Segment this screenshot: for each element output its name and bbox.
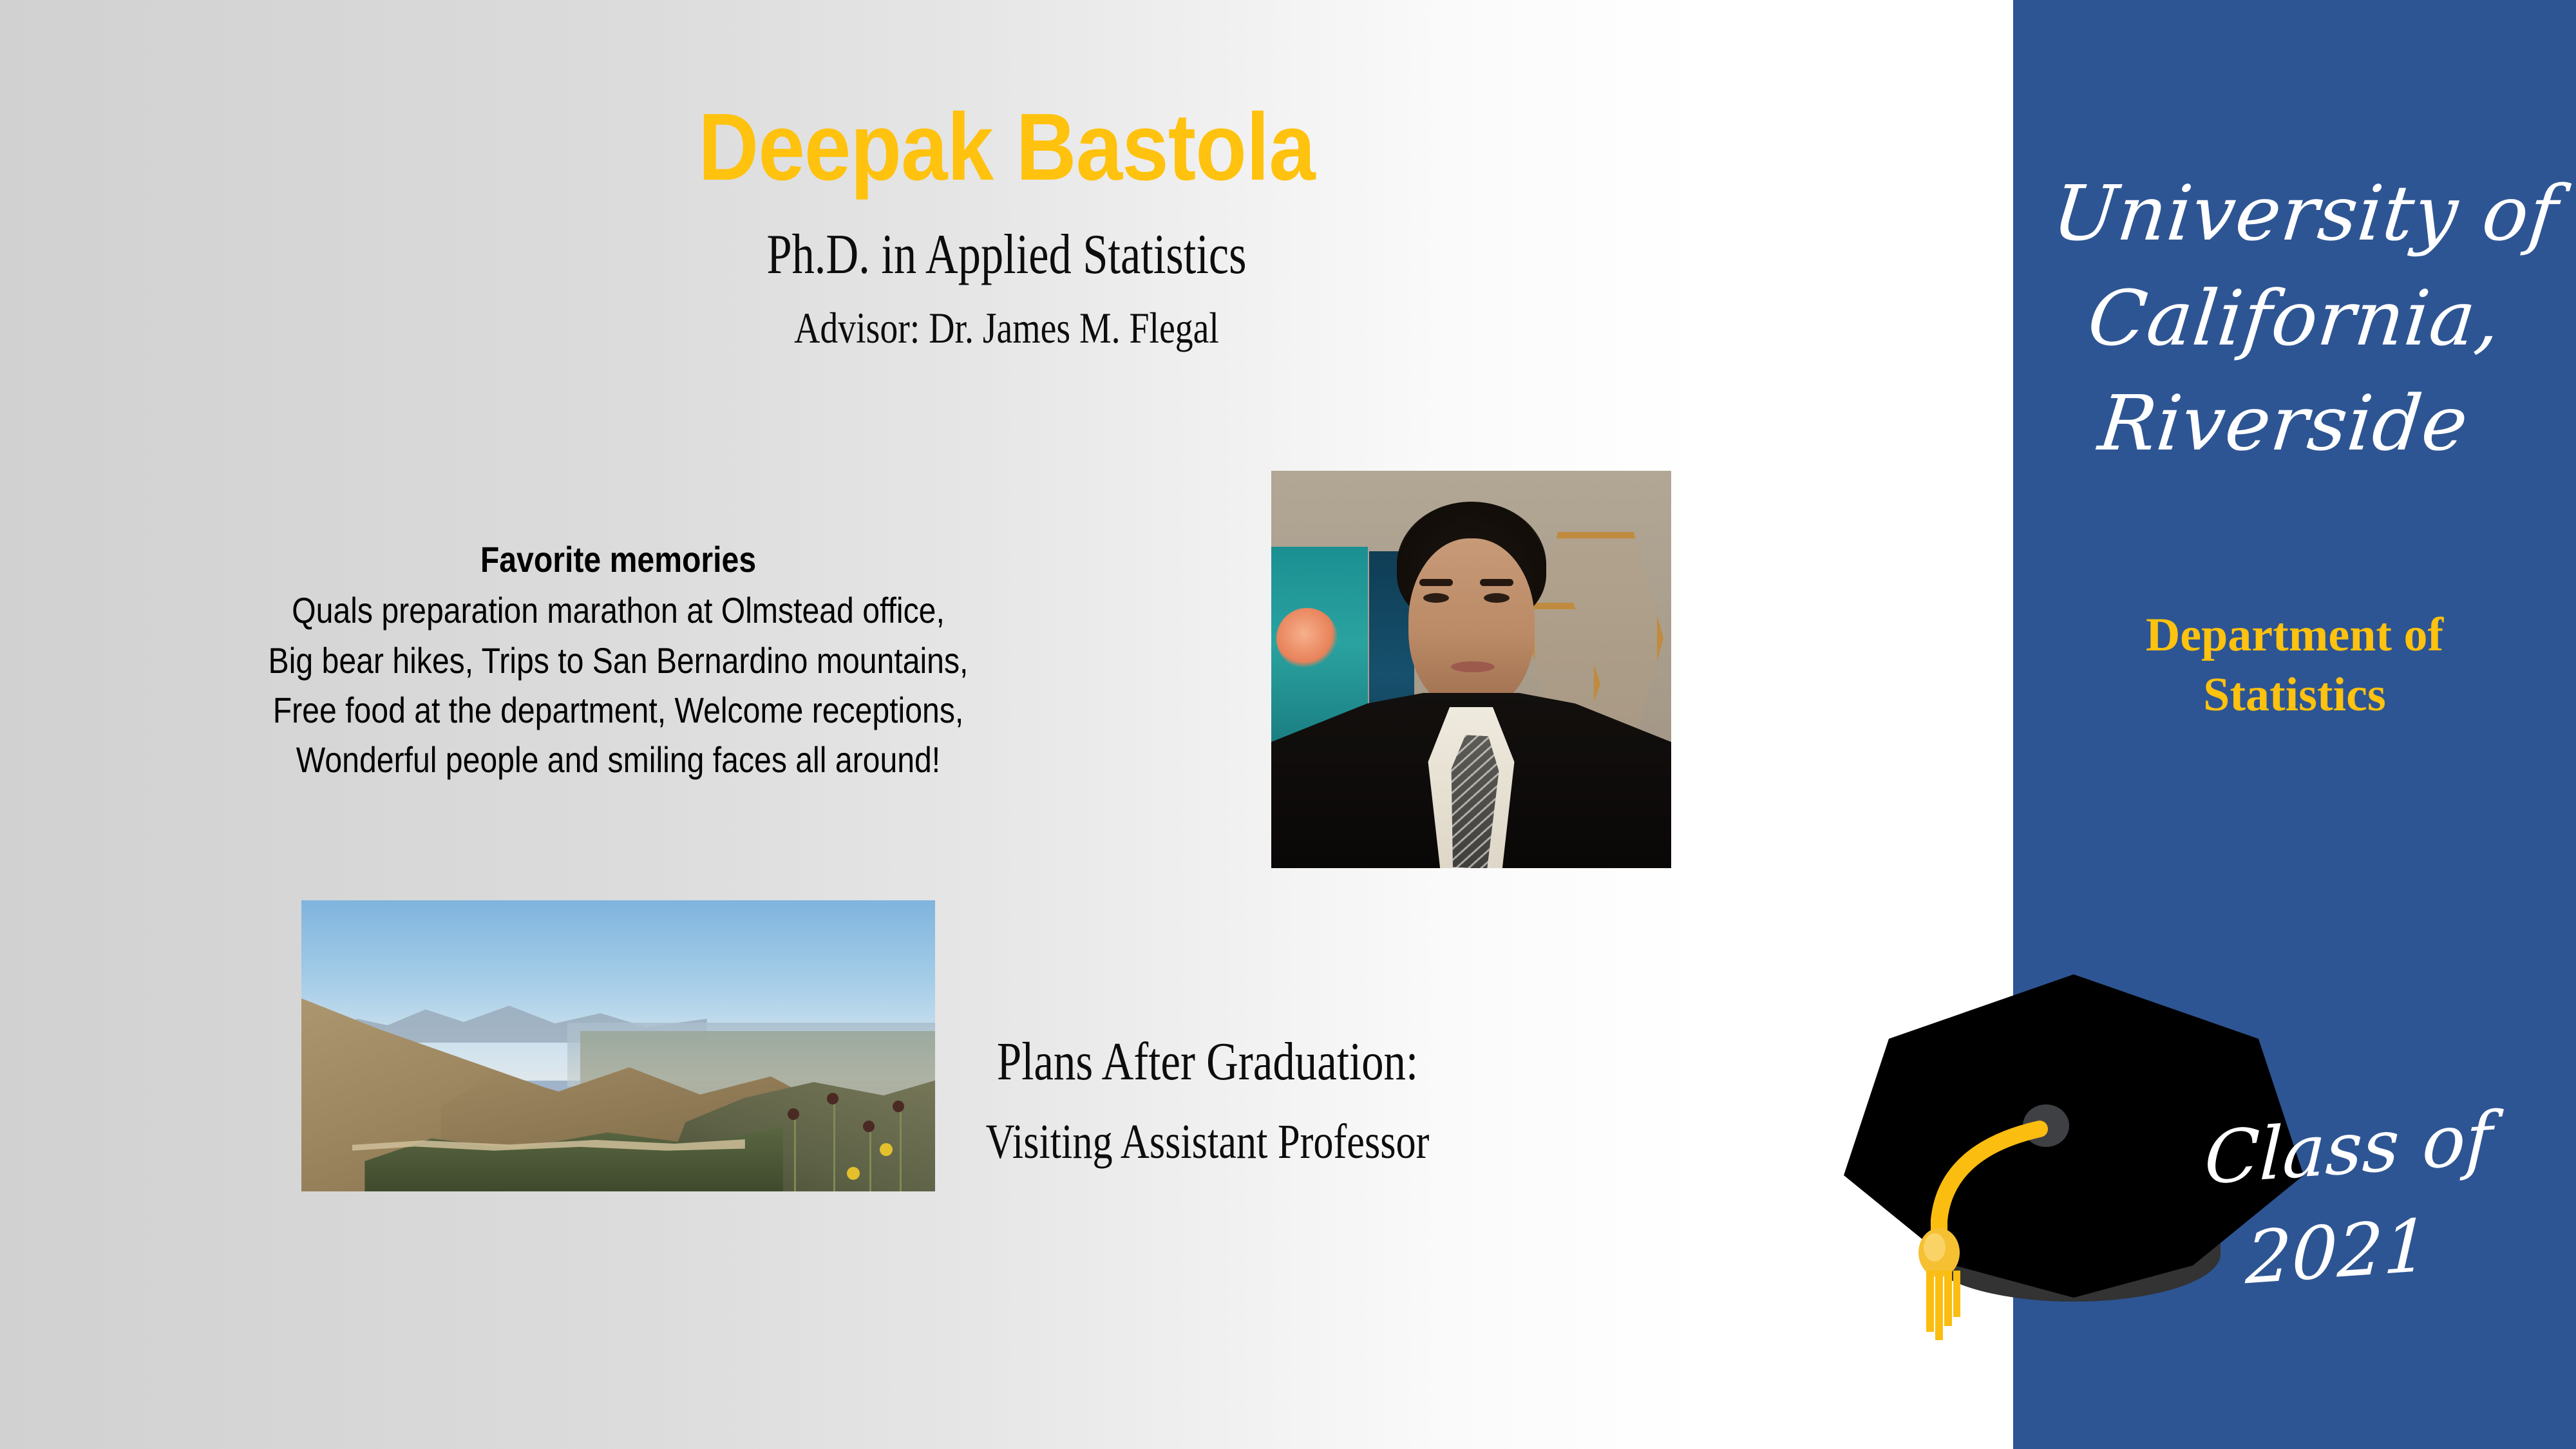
page-title: Deepak Bastola <box>121 100 1893 195</box>
university-line: University of <box>2019 161 2576 266</box>
degree-subtitle: Ph.D. in Applied Statistics <box>202 222 1812 287</box>
person-face <box>1408 538 1535 711</box>
person-eyebrow-right <box>1480 579 1513 586</box>
department-line: Department of <box>2013 605 2576 665</box>
slide-canvas: Deepak Bastola Ph.D. in Applied Statisti… <box>0 0 2576 1449</box>
person-mouth <box>1451 661 1495 672</box>
department-label: Department of Statistics <box>2013 605 2576 724</box>
memories-line: Free food at the department, Welcome rec… <box>225 685 1011 735</box>
memories-line: Big bear hikes, Trips to San Bernardino … <box>225 636 1011 685</box>
memories-line: Wonderful people and smiling faces all a… <box>225 735 1011 784</box>
plans-value: Visiting Assistant Professor <box>904 1114 1511 1170</box>
memories-line: Quals preparation marathon at Olmstead o… <box>225 585 1011 635</box>
memories-block: Favorite memories Quals preparation mara… <box>225 535 1011 784</box>
plans-heading: Plans After Graduation: <box>904 1030 1511 1093</box>
department-line: Statistics <box>2013 665 2576 725</box>
landscape-photo <box>301 900 935 1191</box>
portrait-photo <box>1271 471 1671 868</box>
person-eye-left <box>1423 593 1449 603</box>
foreground-flowers <box>758 1092 923 1191</box>
person-eye-right <box>1484 593 1510 603</box>
advisor-line: Advisor: Dr. James M. Flegal <box>181 303 1832 354</box>
university-line: Riverside <box>2013 371 2570 476</box>
university-line: California, <box>2013 266 2576 371</box>
graduation-cap-icon <box>1806 963 2341 1343</box>
memories-heading: Favorite memories <box>225 535 1011 584</box>
university-name: University of California, Riverside <box>2013 161 2576 475</box>
person-eyebrow-left <box>1419 579 1453 586</box>
